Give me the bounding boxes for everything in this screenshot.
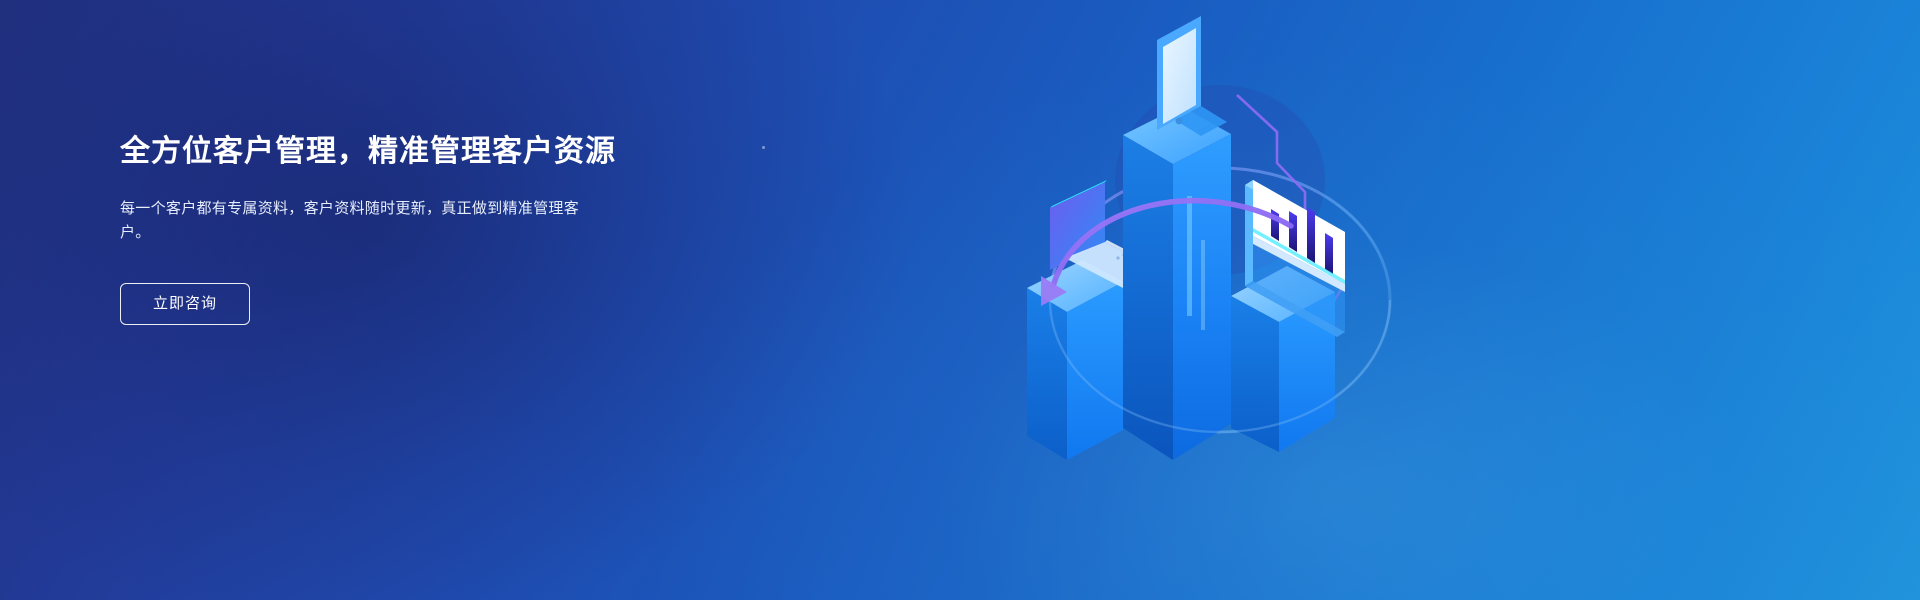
banner-content: 全方位客户管理，精准管理客户资源 每一个客户都有专属资料，客户资料随时更新，真正… xyxy=(120,133,740,325)
tall-bar-highlight-2 xyxy=(1201,240,1205,330)
tall-center-bar xyxy=(1123,106,1231,460)
decorative-dot xyxy=(762,146,765,149)
hero-banner: 全方位客户管理，精准管理客户资源 每一个客户都有专属资料，客户资料随时更新，真正… xyxy=(0,0,1920,600)
page-title: 全方位客户管理，精准管理客户资源 xyxy=(120,133,740,171)
tall-bar-highlight xyxy=(1187,196,1192,316)
banner-subtitle: 每一个客户都有专属资料，客户资料随时更新，真正做到精准管理客户。 xyxy=(120,197,600,246)
hero-illustration xyxy=(1005,0,1465,600)
consult-now-button[interactable]: 立即咨询 xyxy=(120,283,250,325)
tablet-device xyxy=(1157,16,1227,136)
tablet-home-button xyxy=(1176,118,1183,125)
